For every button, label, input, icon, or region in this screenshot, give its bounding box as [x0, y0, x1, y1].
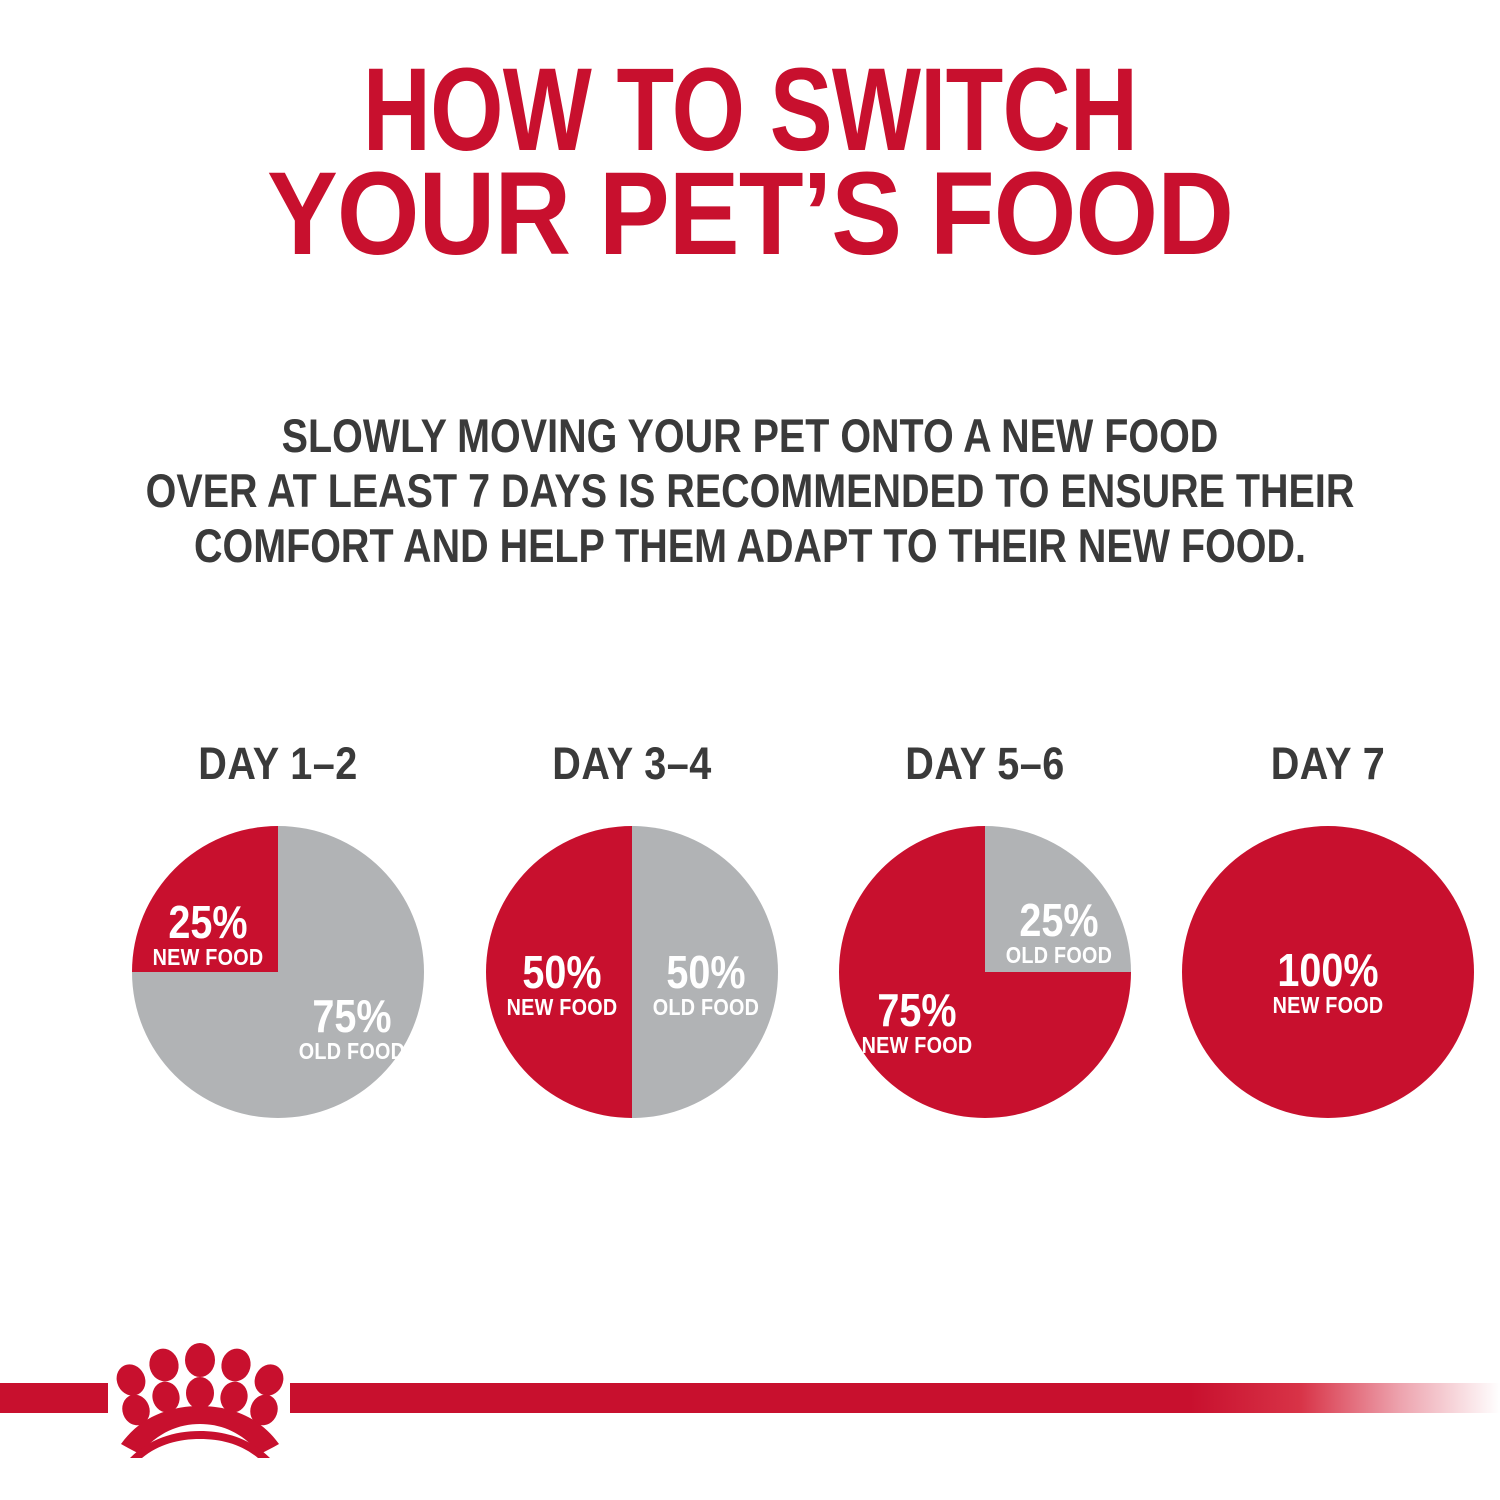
pie-chart-day-5-6: 25% OLD FOOD 75% NEW FOOD	[839, 826, 1131, 1118]
pie-chart-day-3-4: 50% NEW FOOD 50% OLD FOOD	[486, 826, 778, 1118]
pie-slice-new-food	[1182, 826, 1474, 1118]
pie-chart-day-7: 100% NEW FOOD	[1182, 826, 1474, 1118]
day-label-3: DAY 5–6	[853, 740, 1117, 788]
subtitle-line-1: SLOWLY MOVING YOUR PET ONTO A NEW FOOD	[120, 408, 1380, 463]
title-line-2: YOUR PET’S FOOD	[75, 162, 1425, 266]
day-label-2: DAY 3–4	[500, 740, 764, 788]
pie-svg-1	[132, 826, 424, 1118]
pie-svg-2	[486, 826, 778, 1118]
pie-chart-day-1-2: 25% NEW FOOD 75% OLD FOOD	[132, 826, 424, 1118]
subtitle: SLOWLY MOVING YOUR PET ONTO A NEW FOOD O…	[0, 408, 1500, 573]
pie-svg-3	[839, 826, 1131, 1118]
pie-card-day-5-6: DAY 5–6 25% OLD FOOD 75% NEW FOOD	[835, 740, 1135, 1118]
pie-card-day-7: DAY 7 100% NEW FOOD	[1178, 740, 1478, 1118]
pie-card-day-3-4: DAY 3–4 50% NEW FOOD 50% OLD FOOD	[482, 740, 782, 1118]
pie-slice-new-food	[132, 826, 278, 972]
pie-card-day-1-2: DAY 1–2 25% NEW FOOD 75% OLD FOOD	[128, 740, 428, 1118]
subtitle-line-3: COMFORT AND HELP THEM ADAPT TO THEIR NEW…	[120, 518, 1380, 573]
pie-slice-new-food	[486, 826, 632, 1118]
pie-chart-row: DAY 1–2 25% NEW FOOD 75% OLD FOOD DAY 3–…	[0, 740, 1500, 1160]
royal-canin-crown-icon	[108, 1340, 292, 1458]
crown-svg	[108, 1340, 292, 1458]
subtitle-line-2: OVER AT LEAST 7 DAYS IS RECOMMENDED TO E…	[120, 463, 1380, 518]
page-title: HOW TO SWITCH YOUR PET’S FOOD	[0, 58, 1500, 266]
day-label-4: DAY 7	[1196, 740, 1460, 788]
day-label-1: DAY 1–2	[146, 740, 410, 788]
title-line-1: HOW TO SWITCH	[150, 58, 1350, 162]
pie-slice-old-food	[632, 826, 778, 1118]
pie-svg-4	[1182, 826, 1474, 1118]
pie-slice-old-food	[985, 826, 1131, 972]
